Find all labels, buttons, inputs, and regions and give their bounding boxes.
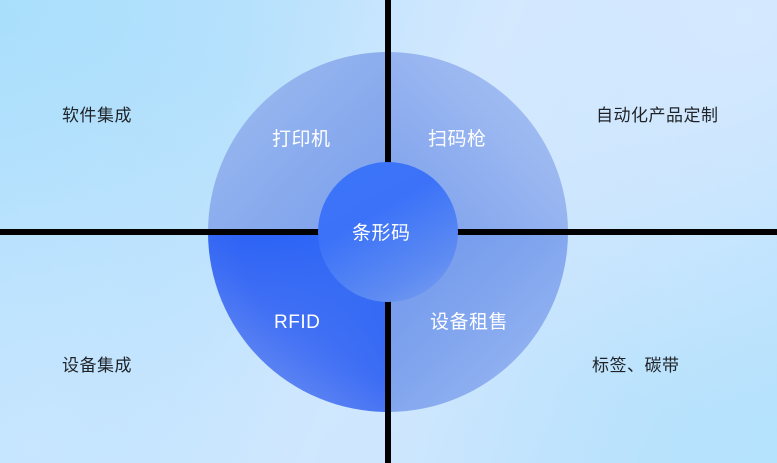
quadrant-label-bottom-right: 设备租售 <box>430 313 508 332</box>
quadrant-label-bottom-left: RFID <box>274 313 320 332</box>
quadrant-label-top-left: 打印机 <box>272 130 331 149</box>
center-circle-label: 条形码 <box>352 224 411 243</box>
outer-label-top-right: 自动化产品定制 <box>596 107 719 124</box>
outer-label-top-left: 软件集成 <box>62 107 132 124</box>
diagram-canvas: 条形码 打印机 扫码枪 RFID 设备租售 软件集成 自动化产品定制 设备集成 … <box>0 0 777 463</box>
outer-label-bottom-right: 标签、碳带 <box>592 357 680 374</box>
quadrant-label-top-right: 扫码枪 <box>428 130 487 149</box>
outer-label-bottom-left: 设备集成 <box>62 357 132 374</box>
